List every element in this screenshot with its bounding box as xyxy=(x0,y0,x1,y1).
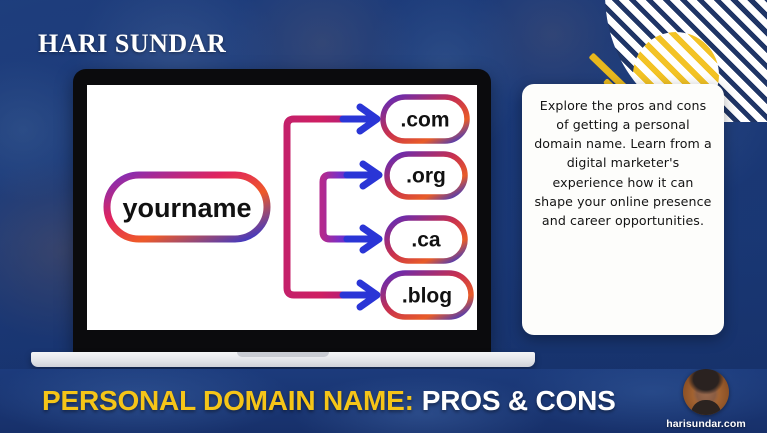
root-node-label: yourname xyxy=(122,193,251,223)
leaf-node-label-1: .org xyxy=(406,165,446,188)
banner-title-secondary: PROS & CONS xyxy=(422,385,616,417)
website-label: harisundar.com xyxy=(666,418,746,430)
leaf-node-label-3: .blog xyxy=(402,285,452,308)
leaf-node-label-2: .ca xyxy=(411,229,441,252)
laptop-base xyxy=(31,352,535,367)
laptop-bezel: yourname .com .org .ca .blog xyxy=(73,69,491,357)
leaf-node-label-0: .com xyxy=(400,109,449,132)
description-card: Explore the pros and cons of getting a p… xyxy=(522,84,724,335)
poster-root: HARI SUNDAR xyxy=(0,0,767,433)
description-text: Explore the pros and cons of getting a p… xyxy=(534,96,712,230)
laptop-trackpad-notch xyxy=(237,352,329,357)
domain-branch-diagram: yourname .com .org .ca .blog xyxy=(87,85,477,330)
banner-title-primary: PERSONAL DOMAIN NAME: xyxy=(42,385,414,417)
page-title: HARI SUNDAR xyxy=(38,29,226,59)
banner-title-group: PERSONAL DOMAIN NAME: PROS & CONS xyxy=(42,369,616,433)
author-badge: harisundar.com xyxy=(660,369,752,431)
laptop-screen: yourname .com .org .ca .blog xyxy=(87,85,477,330)
bottom-banner: PERSONAL DOMAIN NAME: PROS & CONS harisu… xyxy=(0,369,767,433)
avatar xyxy=(683,369,729,415)
